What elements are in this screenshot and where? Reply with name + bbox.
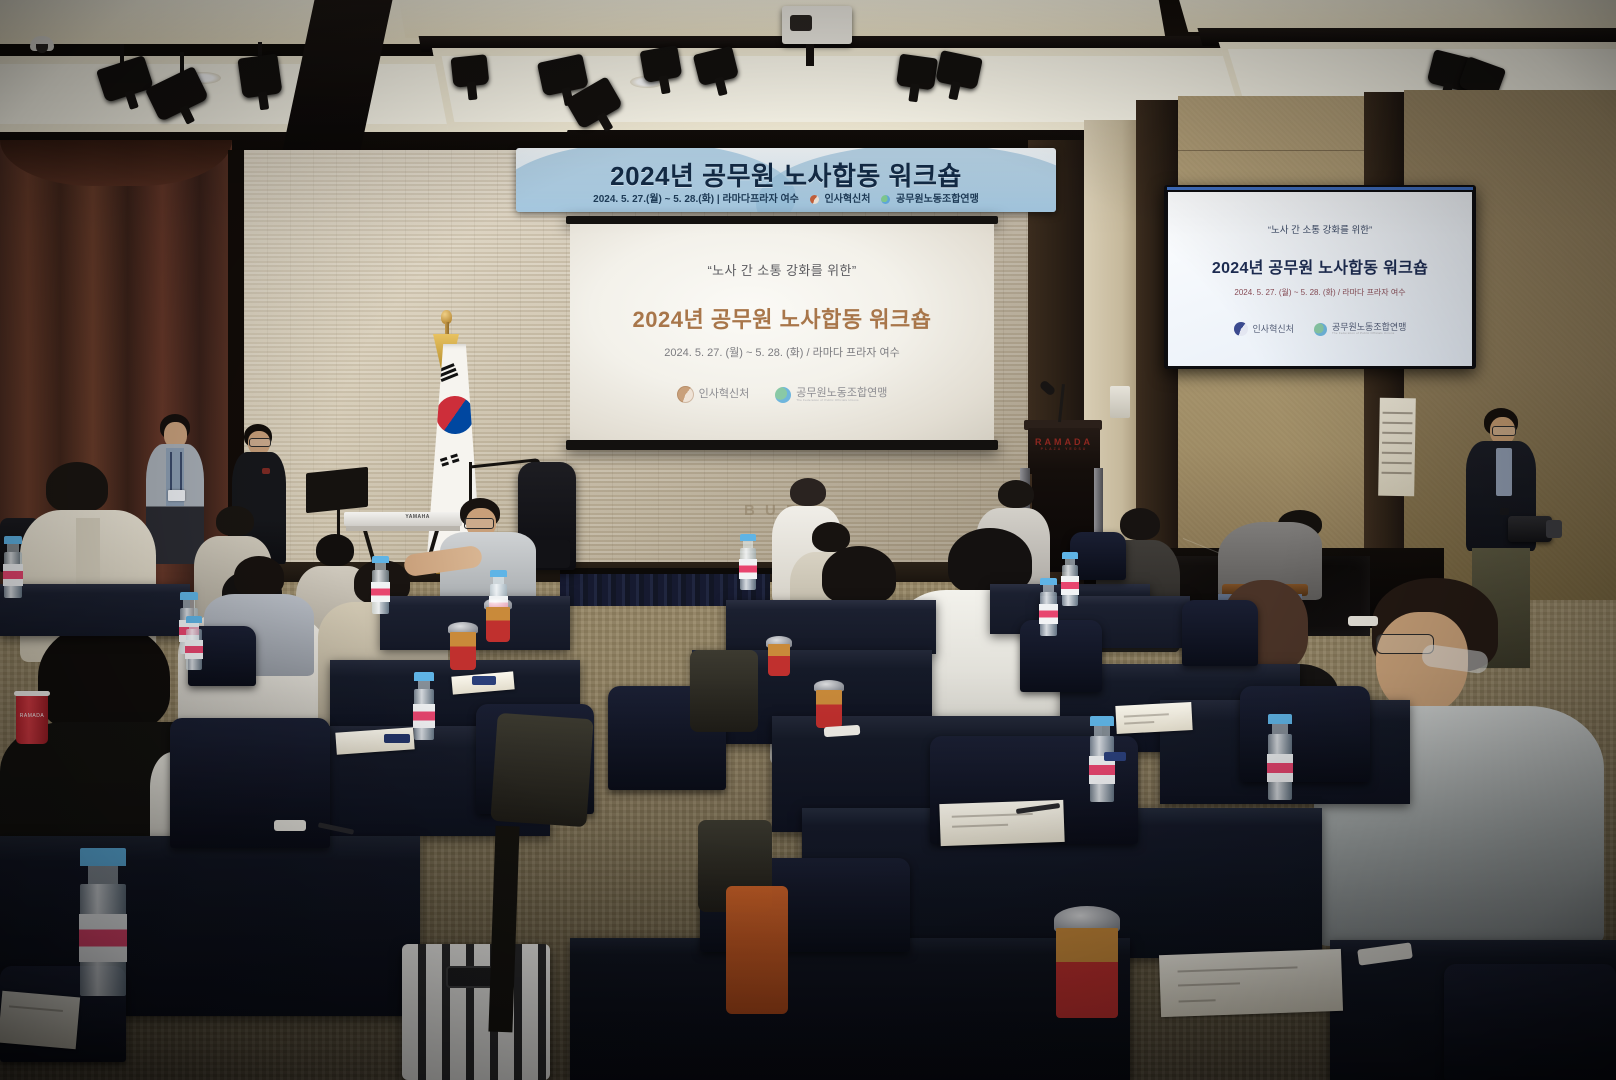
security-camera [30,36,54,51]
backpack-2[interactable] [690,650,758,732]
table-front-center-2 [570,938,1130,1080]
handout-paper-3[interactable] [1159,949,1343,1017]
chair-front-right[interactable] [1444,964,1616,1080]
orange-tote-bag[interactable] [726,886,788,1014]
water-bottle-8[interactable] [1062,552,1078,606]
tv-union-logo-icon [1314,323,1327,336]
marker-1[interactable] [274,820,306,831]
iced-americano-foreground[interactable] [1056,906,1118,1018]
banner-logo-mpm-label: 인사혁신처 [824,194,870,205]
name-badge [168,490,185,501]
marker-4[interactable] [1348,616,1378,626]
ceiling-light-panel-3 [395,0,1166,38]
blue-clip-2[interactable] [1104,752,1126,761]
banner-subtitle-text: 2024. 5. 27.(월) ~ 5. 28.(화) | 라마다프라자 여수 [593,194,799,205]
photographer-shirt [1496,448,1512,496]
tv-logo-mpm-label: 인사혁신처 [1253,325,1294,334]
blue-clip-1[interactable] [472,676,496,685]
banner-title: 2024년 공무원 노사합동 워크숍 [516,156,1056,193]
blue-clip-3[interactable] [384,734,410,743]
slide-logo-row: 인사혁신처 공무원노동조합연맹 The Federation of Public… [570,386,994,403]
chair-rear-right[interactable] [1070,532,1126,580]
iced-drink-1[interactable] [450,622,476,670]
water-bottle-6[interactable] [740,534,756,590]
tv-screen: “노사 간 소통 강화를 위한” 2024년 공무원 노사합동 워크숍 2024… [1168,192,1472,366]
podium-front: RAMADA PLAZA YEOSU [1028,428,1100,474]
trigram-gon [440,453,460,468]
tv-mpm-logo-icon [1234,322,1248,336]
slide-logo-union-label: 공무원노동조합연맹 [796,388,887,399]
backpack-1[interactable] [490,713,593,827]
projection-screen-weightbar [566,440,998,450]
mpm-logo-icon [677,386,694,403]
handout-paper-1[interactable] [1115,702,1192,734]
stage-spotlight-7 [640,45,683,83]
tv-logo-union: 공무원노동조합연맹 The Federation of Public Offic… [1314,323,1407,336]
stage-spotlight-6 [451,54,490,88]
coffee-cup-brand-label: RAMADA [16,713,48,719]
tv-title: 2024년 공무원 노사합동 워크숍 [1168,254,1472,278]
chair-left-1[interactable] [170,718,330,848]
tv-logo-row: 인사혁신처 공무원노동조합연맹 The Federation of Public… [1168,322,1472,336]
ramada-coffee-cup[interactable]: RAMADA [16,694,48,744]
water-bottle-11[interactable] [186,616,202,670]
ceiling-projector [782,6,852,44]
podium-brand-sublabel: PLAZA YEOSU [1028,447,1100,451]
wall-panel-seam [1178,150,1364,151]
slide-date: 2024. 5. 27. (월) ~ 5. 28. (화) / 라마다 프라자 … [570,344,994,360]
polo-logo [262,468,270,474]
iced-drink-3[interactable] [768,636,790,676]
table-row-rear-left [0,584,190,636]
water-bottle-5[interactable] [414,672,434,740]
music-stand-tray [306,467,368,514]
tv-quote: “노사 간 소통 강화를 위한” [1168,222,1472,236]
slide-logo-mpm: 인사혁신처 [677,386,750,403]
banner-subtitle: 2024. 5. 27.(월) ~ 5. 28.(화) | 라마다프라자 여수 … [516,190,1056,205]
chair-right-1[interactable] [1020,620,1102,692]
camera-lens [1546,520,1562,538]
banner-logo-union-label: 공무원노동조합연맹 [896,194,979,205]
slide-quote: “노사 간 소통 강화를 위한” [570,260,994,279]
water-bottle-1[interactable] [4,536,22,598]
water-bottle-foreground[interactable] [80,848,126,996]
tv-logo-union-sublabel: The Federation of Public Officials Union… [1332,332,1407,335]
chair-right-2[interactable] [1182,600,1258,666]
water-bottle-10[interactable] [1268,714,1292,800]
iced-drink-4[interactable] [816,680,842,728]
water-bottle-3[interactable] [372,556,389,614]
wristwatch [1500,508,1509,515]
projector-mount [806,44,814,66]
conference-hall-photo: B U B 2024년 공무원 노사합동 워크숍 2024. 5. 27.(월)… [0,0,1616,1080]
rolling-suitcase[interactable] [402,944,550,1080]
banner-logo-union-icon [881,195,890,204]
iced-drink-2[interactable] [486,598,510,642]
stage-spotlight-9 [896,54,938,91]
podium-brand-label: RAMADA PLAZA YEOSU [1028,437,1100,451]
tv-date: 2024. 5. 27. (월) ~ 5. 28. (화) / 라마다 프라자 … [1168,287,1472,298]
tv-logo-mpm: 인사혁신처 [1234,322,1294,336]
projection-screen: “노사 간 소통 강화를 위한” 2024년 공무원 노사합동 워크숍 2024… [570,224,994,440]
slide-logo-mpm-label: 인사혁신처 [699,389,750,400]
event-banner: 2024년 공무원 노사합동 워크숍 2024. 5. 27.(월) ~ 5. … [516,148,1056,212]
handout-paper-4[interactable] [0,991,80,1050]
slide-logo-union: 공무원노동조합연맹 The Federation of Public Offic… [775,387,887,403]
stage-spotlight-3 [237,53,282,98]
table-row-rear-center [726,600,936,654]
chair-right-3[interactable] [1240,686,1370,782]
union-logo-icon [775,387,791,403]
slide-title: 2024년 공무원 노사합동 워크숍 [570,302,994,334]
projection-screen-housing [566,216,998,224]
banner-logo-mpm-icon [810,195,819,204]
water-bottle-7[interactable] [1040,578,1057,636]
wall-notice-sheet [1378,398,1416,497]
curtain-swag [0,140,232,186]
slide-logo-union-sublabel: The Federation of Public Officials Union… [796,399,887,402]
wall-control-panel[interactable] [1110,386,1130,418]
